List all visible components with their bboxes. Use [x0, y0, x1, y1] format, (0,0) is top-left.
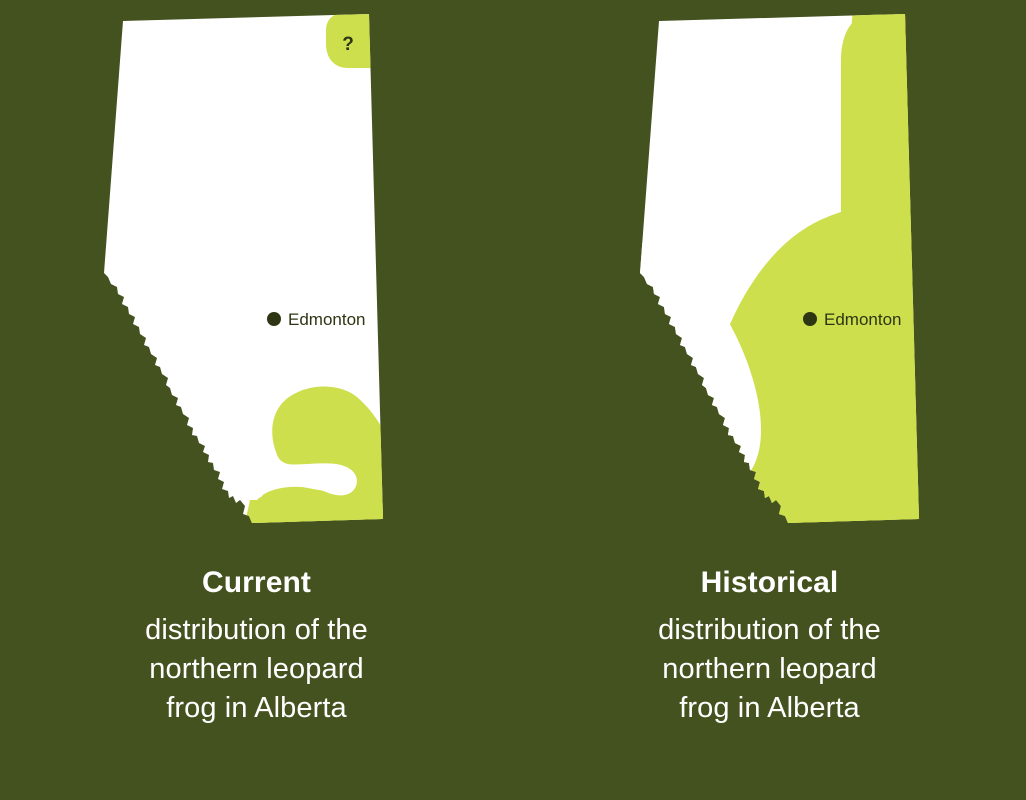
- alberta-map-historical[interactable]: Edmonton: [513, 0, 1026, 545]
- infographic-root: ? Edmonton Current distribution of the n…: [0, 0, 1026, 800]
- caption-historical: Historical distribution of the northern …: [550, 545, 990, 728]
- caption-line-1-historical: distribution of the: [550, 611, 990, 650]
- map-container-historical: Edmonton: [513, 0, 1026, 545]
- panel-historical: Edmonton Historical distribution of the …: [513, 0, 1026, 800]
- caption-line-3-current: frog in Alberta: [37, 689, 477, 728]
- city-label-edmonton: Edmonton: [824, 310, 902, 329]
- caption-line-1-current: distribution of the: [37, 611, 477, 650]
- caption-line-2-historical: northern leopard: [550, 650, 990, 689]
- city-dot-icon: [803, 312, 817, 326]
- range-strip-south-edge: [240, 500, 400, 545]
- alberta-map-current[interactable]: ? Edmonton: [0, 0, 513, 545]
- map-container-current: ? Edmonton: [0, 0, 513, 545]
- caption-line-2-current: northern leopard: [37, 650, 477, 689]
- caption-current: Current distribution of the northern leo…: [37, 545, 477, 728]
- caption-title-historical: Historical: [550, 563, 990, 604]
- question-mark-icon: ?: [342, 34, 354, 55]
- caption-title-current: Current: [37, 563, 477, 604]
- range-area-southwest: [760, 470, 943, 540]
- caption-line-3-historical: frog in Alberta: [550, 689, 990, 728]
- panel-row: ? Edmonton Current distribution of the n…: [0, 0, 1026, 800]
- panel-current: ? Edmonton Current distribution of the n…: [0, 0, 513, 800]
- city-label-edmonton: Edmonton: [288, 310, 366, 329]
- city-dot-icon: [267, 312, 281, 326]
